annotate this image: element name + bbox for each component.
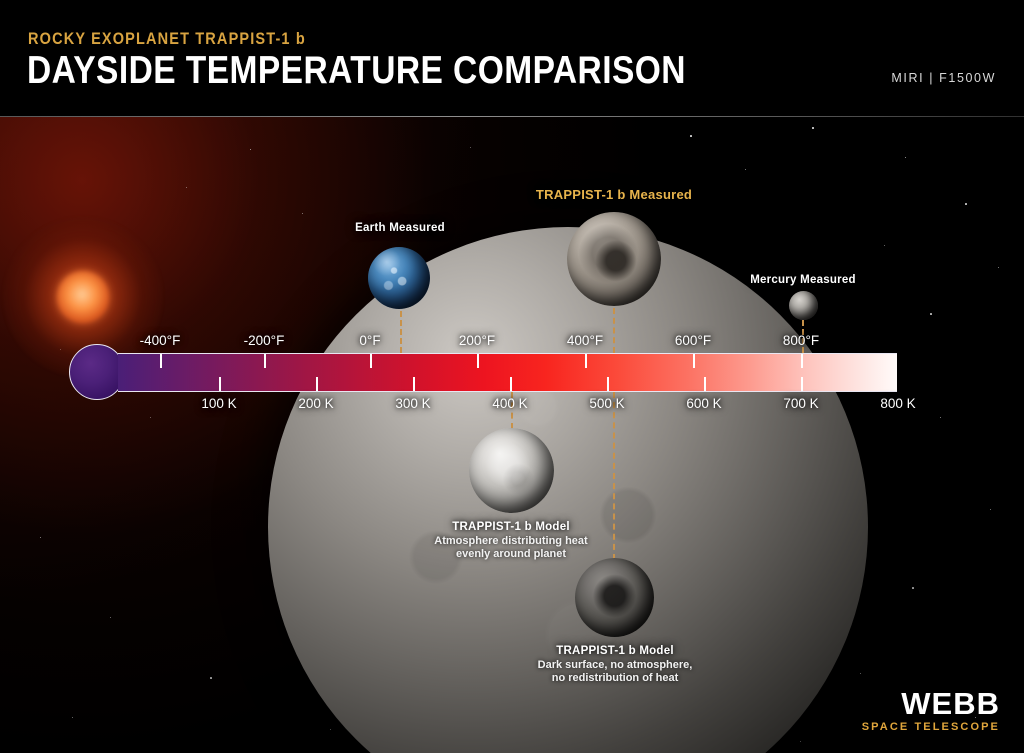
page-title: DAYSIDE TEMPERATURE COMPARISON [27,50,686,92]
marker-label-model-dark: TRAPPIST-1 b Model [556,645,674,657]
axis-label-f-200: 200°F [459,333,495,348]
axis-label-f-400: 400°F [567,333,603,348]
tick-f-800 [801,354,803,368]
marker-label-model-atmosphere: TRAPPIST-1 b Model [452,521,570,533]
thermometer-bulb [69,344,125,400]
axis-label-k-800: 800 K [880,396,915,411]
axis-label-f-0: 0°F [359,333,380,348]
temperature-gradient-bar [118,353,897,392]
instrument-label: MIRI | F1500W [891,71,996,85]
header-bar: ROCKY EXOPLANET TRAPPIST-1 b DAYSIDE TEM… [0,0,1024,117]
leader-line-trappist-1b-measured [613,308,615,353]
webb-logo-subtitle: SPACE TELESCOPE [862,719,1000,735]
axis-label-f-800: 800°F [783,333,819,348]
leader-line-earth [400,311,402,353]
trappist-1-star [57,271,109,323]
axis-label-k-200: 200 K [298,396,333,411]
tick-k-500 [607,377,609,391]
axis-label-k-600: 600 K [686,396,721,411]
webb-logo: WEBB SPACE TELESCOPE [862,688,1000,735]
header-eyebrow: ROCKY EXOPLANET TRAPPIST-1 b [28,30,306,49]
webb-logo-wordmark: WEBB [862,688,1000,719]
axis-label-f--200: -200°F [244,333,285,348]
tick-f-600 [693,354,695,368]
tick-k-200 [316,377,318,391]
planet-mercury [789,291,818,320]
tick-k-100 [219,377,221,391]
leader-line-model-dark [613,392,615,560]
tick-k-700 [801,377,803,391]
planet-trappist-1b-model-dark [575,558,654,637]
marker-sub-model-dark-line2: no redistribution of heat [552,672,679,686]
axis-label-k-100: 100 K [201,396,236,411]
marker-sub-model-atmosphere-line1: Atmosphere distributing heat [434,535,587,549]
tick-f-200 [477,354,479,368]
axis-label-f-600: 600°F [675,333,711,348]
planet-trappist-1b-measured [567,212,661,306]
tick-f-0 [370,354,372,368]
marker-label-earth: Earth Measured [355,222,445,234]
tick-f--400 [160,354,162,368]
axis-label-k-500: 500 K [589,396,624,411]
marker-sub-model-dark-line1: Dark surface, no atmosphere, [538,659,693,673]
planet-earth [368,247,430,309]
tick-k-400 [510,377,512,391]
axis-label-k-700: 700 K [783,396,818,411]
axis-label-f--400: -400°F [140,333,181,348]
infographic-root: Earth Measured TRAPPIST-1 b Measured Mer… [0,0,1024,753]
planet-trappist-1b-model-atmosphere [469,428,554,513]
tick-f--200 [264,354,266,368]
axis-label-k-400: 400 K [492,396,527,411]
tick-k-600 [704,377,706,391]
marker-label-mercury: Mercury Measured [750,274,856,286]
tick-k-300 [413,377,415,391]
marker-sub-model-atmosphere-line2: evenly around planet [456,548,566,562]
header-divider [0,116,1024,117]
axis-label-k-300: 300 K [395,396,430,411]
tick-f-400 [585,354,587,368]
marker-label-trappist-1b-measured: TRAPPIST-1 b Measured [536,187,692,202]
